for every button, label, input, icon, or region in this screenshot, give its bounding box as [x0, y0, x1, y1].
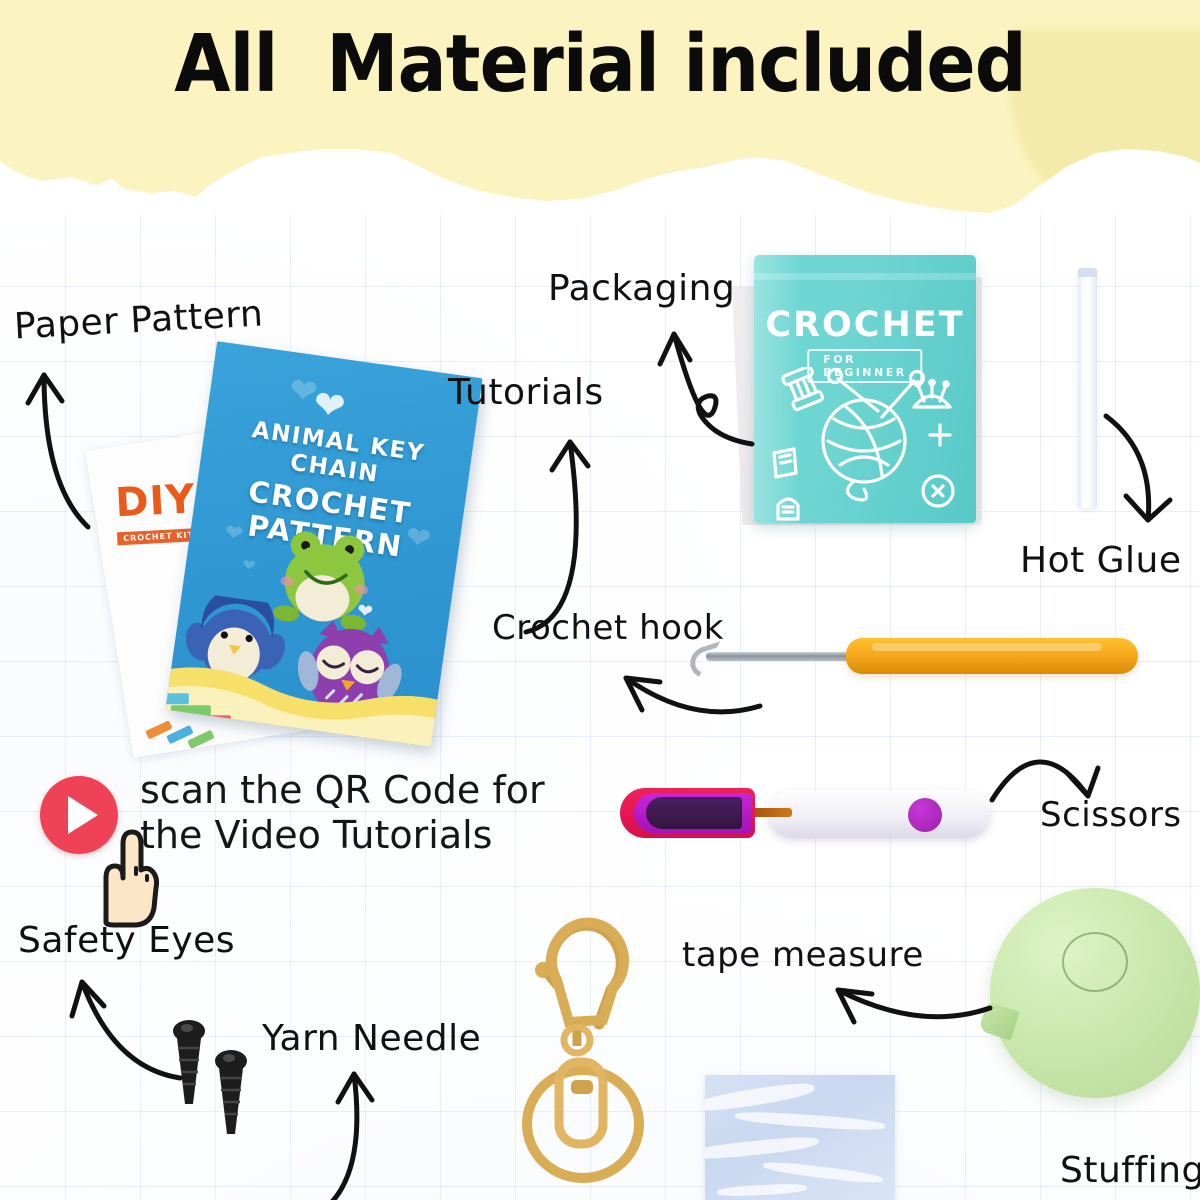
bag-zipper [754, 273, 976, 280]
button-icon [923, 476, 953, 506]
thread-snips-tool [620, 782, 990, 848]
video-tutorial-callout[interactable]: scan the QR Code for the Video Tutorials [40, 770, 560, 885]
label-tutorials: Tutorials [448, 372, 604, 413]
label-packaging: Packaging [548, 268, 735, 309]
yarn-ball-icon [823, 370, 924, 500]
snips-jaw-inner [646, 797, 742, 829]
label-hot-glue: Hot Glue [1020, 540, 1182, 581]
header-banner: All Material included [0, 0, 1200, 215]
packaging-bag: CROCHET FOR BEGINNER [732, 255, 982, 540]
label-yarn-needle: Yarn Needle [262, 1018, 481, 1059]
tape-measure-hub [1062, 932, 1128, 992]
label-stuffing: Stuffing [1060, 1150, 1200, 1191]
crochet-hook-tool [676, 628, 1136, 690]
crochet-pattern-booklet: ❤ ❤ ❤ ❤ ❤ ❤ ANIMAL KEY CHAIN CROCHET PAT… [165, 341, 482, 747]
infographic-canvas: DIYHANDICRAFT CROCHET KIT FOR BEGINNER ❤… [0, 0, 1200, 1200]
yarn-spool-icon [782, 367, 823, 410]
label-tape-measure: tape measure [682, 935, 924, 975]
safety-eye-post-icon [166, 1018, 212, 1114]
snips-body [768, 790, 990, 838]
bag-icon-cluster [754, 367, 976, 523]
page-title: All Material included [48, 18, 1152, 110]
hook-handle [846, 638, 1138, 674]
stuffing-bag [705, 1075, 895, 1200]
diy-logo-text: DIY [114, 476, 196, 526]
keychain-clasp [505, 912, 675, 1200]
heart-icon: ❤ [286, 370, 320, 414]
hot-glue-stick [1078, 268, 1097, 508]
tape-measure-tool [990, 888, 1200, 1098]
hook-shaft [706, 652, 854, 661]
snips-knob [908, 798, 942, 832]
torn-paper-edge [0, 127, 1200, 215]
label-safety-eyes: Safety Eyes [18, 920, 235, 961]
video-callout-text: scan the QR Code for the Video Tutorials [140, 768, 570, 858]
heart-icon: ❤ [241, 555, 257, 576]
label-crochet-hook: Crochet hook [492, 608, 724, 648]
safety-eye-post-icon [208, 1048, 254, 1144]
bag-brand-text: CROCHET [754, 305, 976, 345]
thimble-icon [778, 499, 798, 519]
video-callout-line2: the Video Tutorials [140, 813, 570, 858]
bag-front-panel: CROCHET FOR BEGINNER [754, 255, 976, 523]
sparkle-icon [930, 425, 950, 445]
thread-icon [774, 449, 796, 477]
video-callout-line1: scan the QR Code for [140, 768, 570, 813]
label-scissors: Scissors [1040, 795, 1182, 835]
